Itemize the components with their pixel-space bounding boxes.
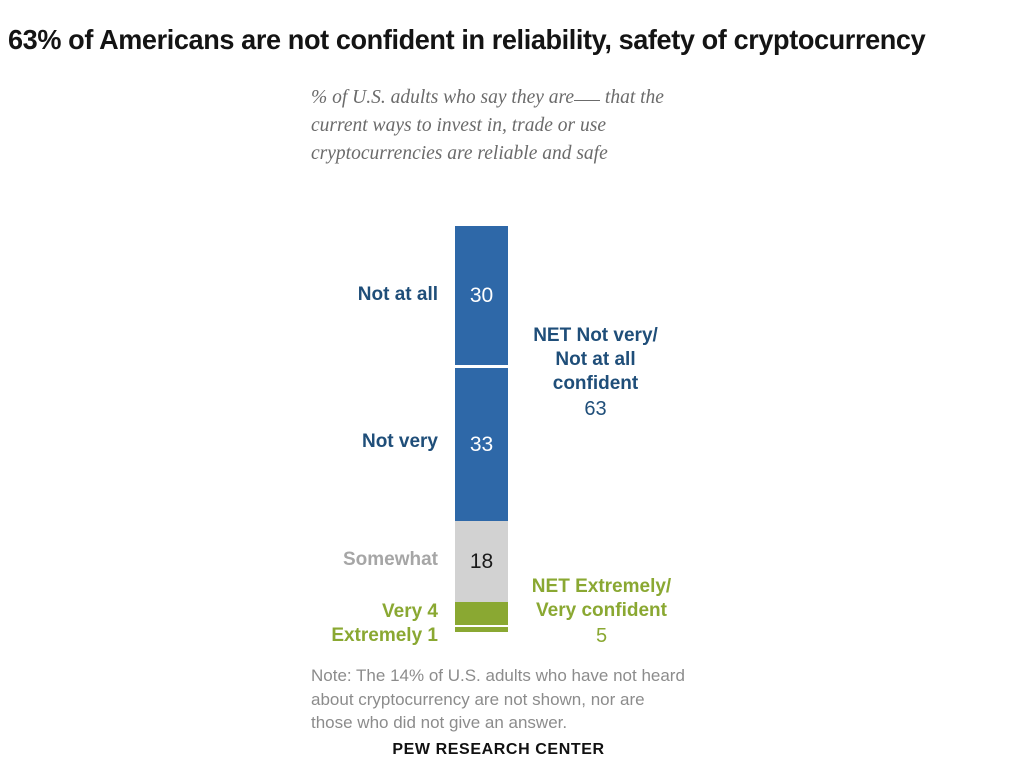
net-confident-value: 5 bbox=[508, 623, 695, 649]
net-not-confident-value: 63 bbox=[508, 396, 683, 422]
bar-segment-not-at-all[interactable]: 30 bbox=[455, 226, 508, 365]
chart-plot-area: 30 33 18 Not at all Not very Somewhat Ve… bbox=[0, 0, 1021, 775]
net-not-confident-line2: Not at all bbox=[508, 348, 683, 372]
bar-segment-extremely[interactable] bbox=[455, 627, 508, 632]
bar-segment-very[interactable] bbox=[455, 602, 508, 625]
net-not-confident-line1: NET Not very/ bbox=[508, 324, 683, 348]
stacked-bar: 30 33 18 bbox=[455, 226, 508, 632]
net-annotation-confident: NET Extremely/ Very confident 5 bbox=[508, 575, 695, 649]
category-label-extremely: Extremely 1 bbox=[230, 625, 438, 647]
category-label-somewhat: Somewhat bbox=[230, 549, 438, 571]
net-confident-line2: Very confident bbox=[508, 599, 695, 623]
bar-value-not-at-all: 30 bbox=[470, 285, 493, 306]
bar-value-somewhat: 18 bbox=[470, 551, 493, 572]
bar-value-not-very: 33 bbox=[470, 434, 493, 455]
bar-segment-not-very[interactable]: 33 bbox=[455, 368, 508, 521]
category-label-very: Very 4 bbox=[230, 601, 438, 623]
net-not-confident-line3: confident bbox=[508, 372, 683, 396]
chart-note: Note: The 14% of U.S. adults who have no… bbox=[311, 664, 686, 735]
chart-source-footer: PEW RESEARCH CENTER bbox=[311, 741, 686, 759]
net-annotation-not-confident: NET Not very/ Not at all confident 63 bbox=[508, 324, 683, 422]
bar-segment-somewhat[interactable]: 18 bbox=[455, 521, 508, 602]
category-label-not-very: Not very bbox=[230, 431, 438, 453]
net-confident-line1: NET Extremely/ bbox=[508, 575, 695, 599]
category-label-not-at-all: Not at all bbox=[230, 284, 438, 306]
